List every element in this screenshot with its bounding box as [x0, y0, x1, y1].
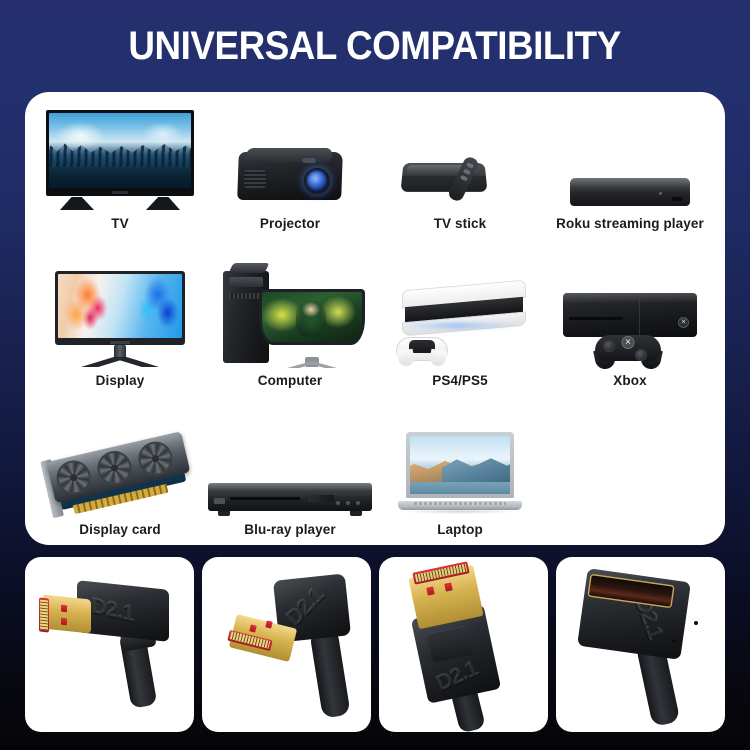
graphics-card-icon [45, 424, 195, 516]
xbox-icon [557, 267, 703, 367]
connector-panel-down-angled-male: D2.1 [202, 557, 371, 732]
device-item-xbox: Xbox [545, 267, 715, 388]
playstation-icon [394, 267, 526, 367]
monitor-icon [55, 267, 185, 367]
device-row-2: Display Computer [35, 267, 715, 388]
laptop-icon [398, 424, 522, 516]
connector-panel-row: D2.1 D2.1 [25, 557, 725, 732]
device-label: Computer [258, 373, 323, 388]
device-label: Roku streaming player [556, 216, 704, 231]
tv-icon [46, 106, 194, 210]
device-item-laptop: Laptop [375, 424, 545, 537]
device-label: Blu-ray player [244, 522, 335, 537]
connector-panel-straight-male: D2.1 [379, 557, 548, 732]
device-label: Display [96, 373, 145, 388]
title-bar: UNIVERSAL COMPATIBILITY [0, 0, 750, 92]
device-label: TV [111, 216, 128, 231]
page-title: UNIVERSAL COMPATIBILITY [129, 24, 621, 69]
device-item-roku-player: Roku streaming player [545, 106, 715, 231]
device-item-playstation: PS4/PS5 [375, 267, 545, 388]
connector-panel-left-angled-male: D2.1 [25, 557, 194, 732]
device-item-display: Display [35, 267, 205, 388]
device-label: Projector [260, 216, 320, 231]
connector-emboss-text: D2.1 [432, 656, 481, 697]
connector-emboss-text: D2.1 [281, 582, 329, 631]
device-label: PS4/PS5 [432, 373, 487, 388]
desktop-computer-icon [215, 267, 365, 367]
device-label: Display card [79, 522, 161, 537]
device-item-projector: Projector [205, 106, 375, 231]
device-label: TV stick [434, 216, 487, 231]
device-item-bluray-player: Blu-ray player [205, 424, 375, 537]
device-row-1: TV Projector TV stick [35, 106, 715, 231]
device-row-3: Display card Blu-ray player [35, 424, 715, 537]
device-item-computer: Computer [205, 267, 375, 388]
tv-stick-icon [402, 106, 518, 210]
device-label: Xbox [613, 373, 646, 388]
device-item-tv-stick: TV stick [375, 106, 545, 231]
compatibility-device-card: TV Projector TV stick [25, 92, 725, 545]
device-item-display-card: Display card [35, 424, 205, 537]
connector-emboss-text: D2.1 [91, 592, 133, 627]
device-item-tv: TV [35, 106, 205, 231]
bluray-player-icon [208, 424, 372, 516]
connector-panel-female-port: D2.1 [556, 557, 725, 732]
roku-player-icon [570, 106, 690, 210]
projector-icon [234, 106, 346, 210]
device-label: Laptop [437, 522, 483, 537]
